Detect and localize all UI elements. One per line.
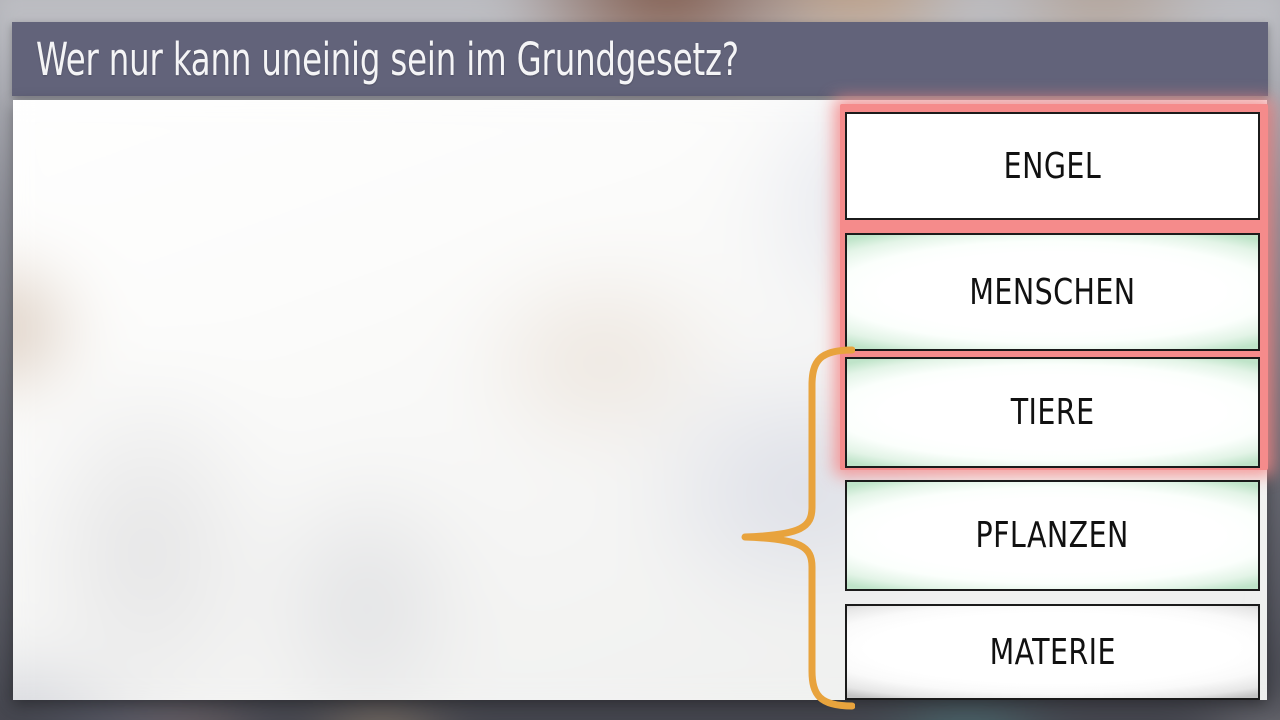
answer-label: MATERIE — [989, 632, 1115, 673]
slide-title-bar: Wer nur kann uneinig sein im Grundgesetz… — [12, 22, 1268, 96]
answer-card-tiere[interactable]: TIERE — [845, 357, 1260, 468]
answer-label: ENGEL — [1004, 146, 1101, 187]
answer-card-engel[interactable]: ENGEL — [845, 112, 1260, 220]
page-title: Wer nur kann uneinig sein im Grundgesetz… — [12, 33, 739, 86]
answer-label: TIERE — [1011, 392, 1095, 433]
answer-card-pflanzen[interactable]: PFLANZEN — [845, 480, 1260, 591]
answer-label: MENSCHEN — [969, 272, 1135, 313]
slide-stage: Wer nur kann uneinig sein im Grundgesetz… — [0, 0, 1280, 720]
answer-label: PFLANZEN — [976, 515, 1129, 556]
answer-card-materie[interactable]: MATERIE — [845, 604, 1260, 700]
answer-card-menschen[interactable]: MENSCHEN — [845, 233, 1260, 351]
